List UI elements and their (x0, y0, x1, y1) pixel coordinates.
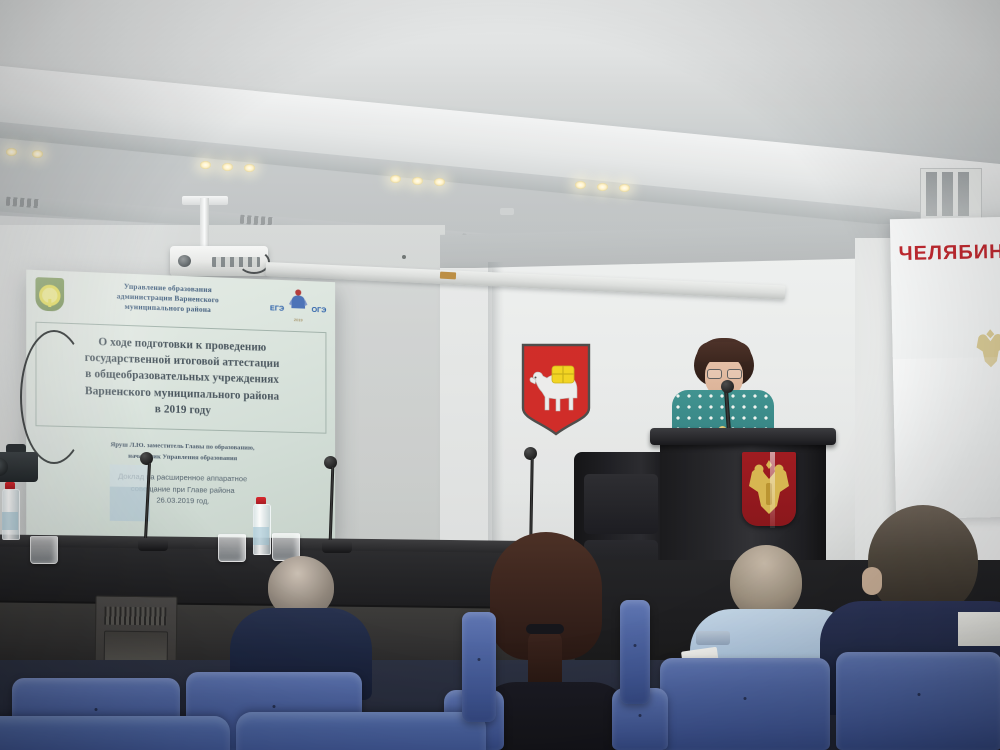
banner-glare (893, 357, 1000, 529)
speaker-bangs (697, 342, 751, 362)
ceiling-spotlight (390, 175, 401, 183)
auditorium-seat[interactable] (660, 658, 830, 750)
ceiling-spotlight (412, 177, 423, 185)
suspended-ceiling (0, 0, 1000, 250)
double-headed-eagle-icon (742, 452, 796, 526)
ceiling-spotlight (244, 164, 255, 172)
hair-tie (526, 624, 564, 634)
slide-header: Управление образования администрации Вар… (35, 277, 326, 328)
wall-pilaster (440, 268, 492, 568)
ege-label: ЕГЭ (270, 303, 284, 312)
glasses-icon (707, 369, 742, 377)
podium-top-edge (650, 428, 836, 445)
ceiling-spotlight (6, 148, 17, 156)
ceiling-spotlight (32, 150, 43, 158)
ceiling-spotlight (200, 161, 211, 169)
ceiling-spotlight (222, 163, 233, 171)
roller-screw (402, 255, 406, 259)
ceiling-spotlight (575, 181, 586, 189)
smoke-detector (500, 208, 514, 215)
table-microphone (138, 452, 172, 552)
wall-corner-shadow (488, 262, 504, 568)
auditorium-seat-front[interactable] (0, 716, 230, 750)
attendee-ear (862, 567, 882, 595)
water-glass (30, 536, 58, 564)
auditorium-seat[interactable] (836, 652, 1000, 750)
varna-district-education-emblem-icon (35, 277, 64, 312)
podium-microphone-head (721, 380, 734, 393)
chelyabinsk-oblast-coat-of-arms (520, 342, 592, 437)
table-microphone (322, 456, 356, 554)
chelyabinsk-banner: ЧЕЛЯБИНСК (890, 217, 1000, 519)
projector-lens-icon (178, 255, 191, 267)
slide-org-header: Управление образования администрации Вар… (70, 278, 264, 316)
ege-oge-year: 2019 (294, 317, 303, 322)
shoulder-epaulette (696, 631, 730, 645)
water-bottle (253, 497, 269, 553)
water-bottle (2, 482, 18, 538)
paper-sheet (958, 612, 1000, 646)
slide-note-block: Доклад на расширенное аппаратное совещан… (35, 469, 326, 509)
auditorium-seat-front[interactable] (236, 712, 486, 750)
projector-mount-pole (200, 198, 209, 250)
ceiling-spotlight (434, 178, 445, 186)
oge-label: ОГЭ (311, 304, 326, 313)
ceiling-spotlight (597, 183, 608, 191)
roller-label-tab (440, 272, 456, 280)
wall-ventilation-grille (920, 168, 982, 220)
ege-oge-logo-icon: ЕГЭ ОГЭ 2019 (270, 286, 326, 322)
auditorium-seat-edge[interactable] (620, 600, 650, 704)
banner-title-text: ЧЕЛЯБИНСК (898, 239, 1000, 266)
ceiling-spotlight (619, 184, 630, 192)
russian-federation-coat-of-arms (742, 452, 796, 526)
attendee-head (730, 545, 802, 619)
podium-highlight (770, 452, 775, 528)
auditorium-seat-edge[interactable] (462, 612, 496, 722)
slide-author-block: Яруш Л.Ю. заместитель Главы по образован… (35, 439, 326, 467)
conference-hall-photo: Управление образования администрации Вар… (0, 0, 1000, 750)
